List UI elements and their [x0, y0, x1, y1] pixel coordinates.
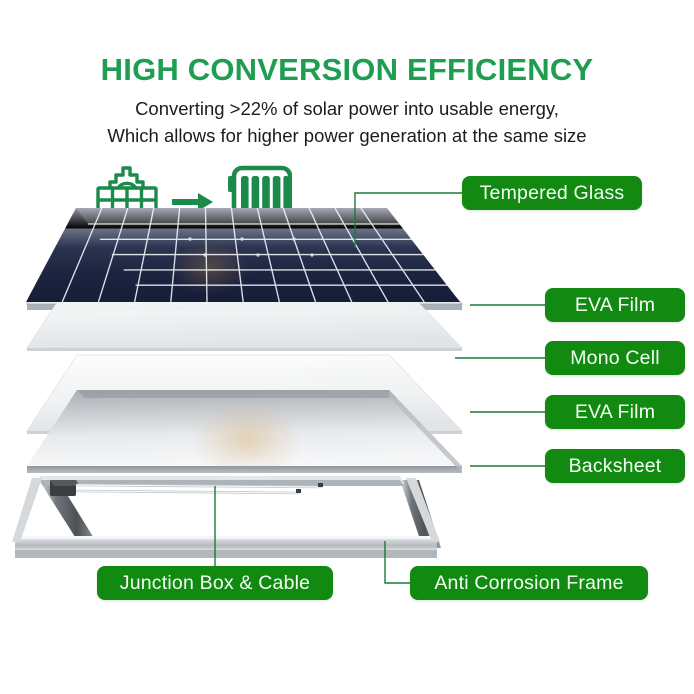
badge-anti-corrosion-frame[interactable]: Anti Corrosion Frame — [410, 566, 648, 600]
subtitle-line-2: Which allows for higher power generation… — [0, 123, 694, 150]
layer-backsheet — [27, 390, 462, 480]
badge-backsheet[interactable]: Backsheet — [545, 449, 685, 483]
badge-eva-film-top[interactable]: EVA Film — [545, 288, 685, 322]
layer-frame — [12, 476, 441, 558]
header: HIGH CONVERSION EFFICIENCY Converting >2… — [0, 52, 694, 150]
badge-junction-box-cable[interactable]: Junction Box & Cable — [97, 566, 333, 600]
layer-mono-cell — [26, 208, 460, 302]
badge-eva-film-bottom[interactable]: EVA Film — [545, 395, 685, 429]
badge-mono-cell[interactable]: Mono Cell — [545, 341, 685, 375]
exploded-panel-stack — [0, 150, 560, 580]
subtitle-line-1: Converting >22% of solar power into usab… — [0, 96, 694, 123]
infographic-page: HIGH CONVERSION EFFICIENCY Converting >2… — [0, 0, 694, 694]
page-title: HIGH CONVERSION EFFICIENCY — [0, 52, 694, 88]
badge-tempered-glass[interactable]: Tempered Glass — [462, 176, 642, 210]
